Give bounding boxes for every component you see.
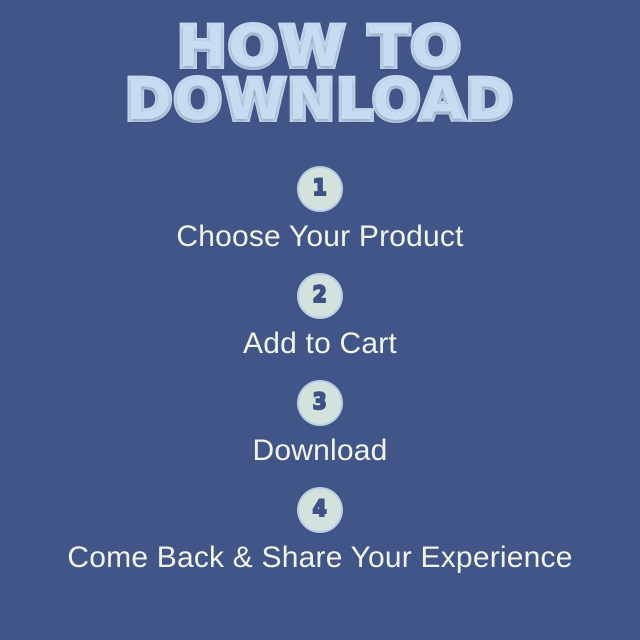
step-badge-2: 2 — [299, 275, 341, 317]
step-label-3: Download — [0, 434, 640, 467]
step-item-1: 1 Choose Your Product — [0, 168, 640, 253]
step-item-4: 4 Come Back & Share Your Experience — [0, 489, 640, 574]
how-to-download-poster: HOW TO DOWNLOAD 1 Choose Your Product 2 … — [0, 0, 640, 640]
step-item-3: 3 Download — [0, 382, 640, 467]
step-item-2: 2 Add to Cart — [0, 275, 640, 360]
step-badge-3: 3 — [299, 382, 341, 424]
step-label-1: Choose Your Product — [0, 220, 640, 253]
poster-title: HOW TO DOWNLOAD — [0, 22, 640, 125]
title-line-how-to: HOW TO — [0, 22, 640, 73]
step-badge-1: 1 — [299, 168, 341, 210]
step-number-1: 1 — [313, 178, 327, 200]
step-number-4: 4 — [313, 499, 327, 521]
step-label-2: Add to Cart — [0, 327, 640, 360]
step-number-2: 2 — [313, 285, 327, 307]
step-number-3: 3 — [313, 392, 327, 414]
step-label-4: Come Back & Share Your Experience — [0, 541, 640, 574]
steps-list: 1 Choose Your Product 2 Add to Cart 3 Do… — [0, 168, 640, 596]
title-line-download: DOWNLOAD — [0, 75, 640, 126]
step-badge-4: 4 — [299, 489, 341, 531]
